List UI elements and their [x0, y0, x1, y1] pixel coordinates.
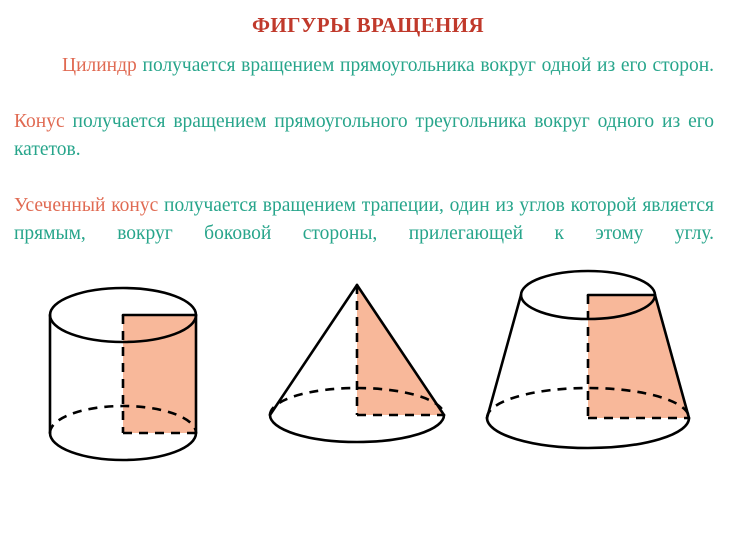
cone-base-front-arc [270, 415, 444, 442]
page-title: ФИГУРЫ ВРАЩЕНИЯ [0, 14, 736, 37]
slide-canvas: ФИГУРЫ ВРАЩЕНИЯ Цилиндр получается враще… [0, 0, 736, 552]
cylinder-generating-rectangle-fill [123, 315, 196, 433]
figures-row [0, 262, 736, 492]
body-text-block: Цилиндр получается вращением прямоугольн… [14, 52, 714, 276]
figure-truncated-cone [487, 271, 689, 448]
keyword-truncated-cone: Усеченный конус [14, 195, 158, 216]
truncated-cone-left-slant [487, 295, 521, 418]
figure-cone [270, 285, 444, 442]
truncated-cone-base-front-arc [487, 418, 689, 448]
keyword-cone: Конус [14, 111, 65, 132]
cylinder-bottom-front-arc [50, 433, 196, 460]
paragraph-cylinder: Цилиндр получается вращением прямоугольн… [14, 52, 714, 108]
paragraph-cone-text: получается вращением прямоугольного треу… [14, 111, 714, 160]
paragraph-cylinder-text: получается вращением прямоугольника вокр… [137, 55, 714, 76]
keyword-cylinder: Цилиндр [62, 55, 137, 76]
figure-cylinder [50, 288, 196, 460]
paragraph-cone: Конус получается вращением прямоугольног… [14, 108, 714, 192]
truncated-cone-generating-trapezoid-fill [588, 295, 689, 418]
cone-left-slant [270, 285, 357, 415]
